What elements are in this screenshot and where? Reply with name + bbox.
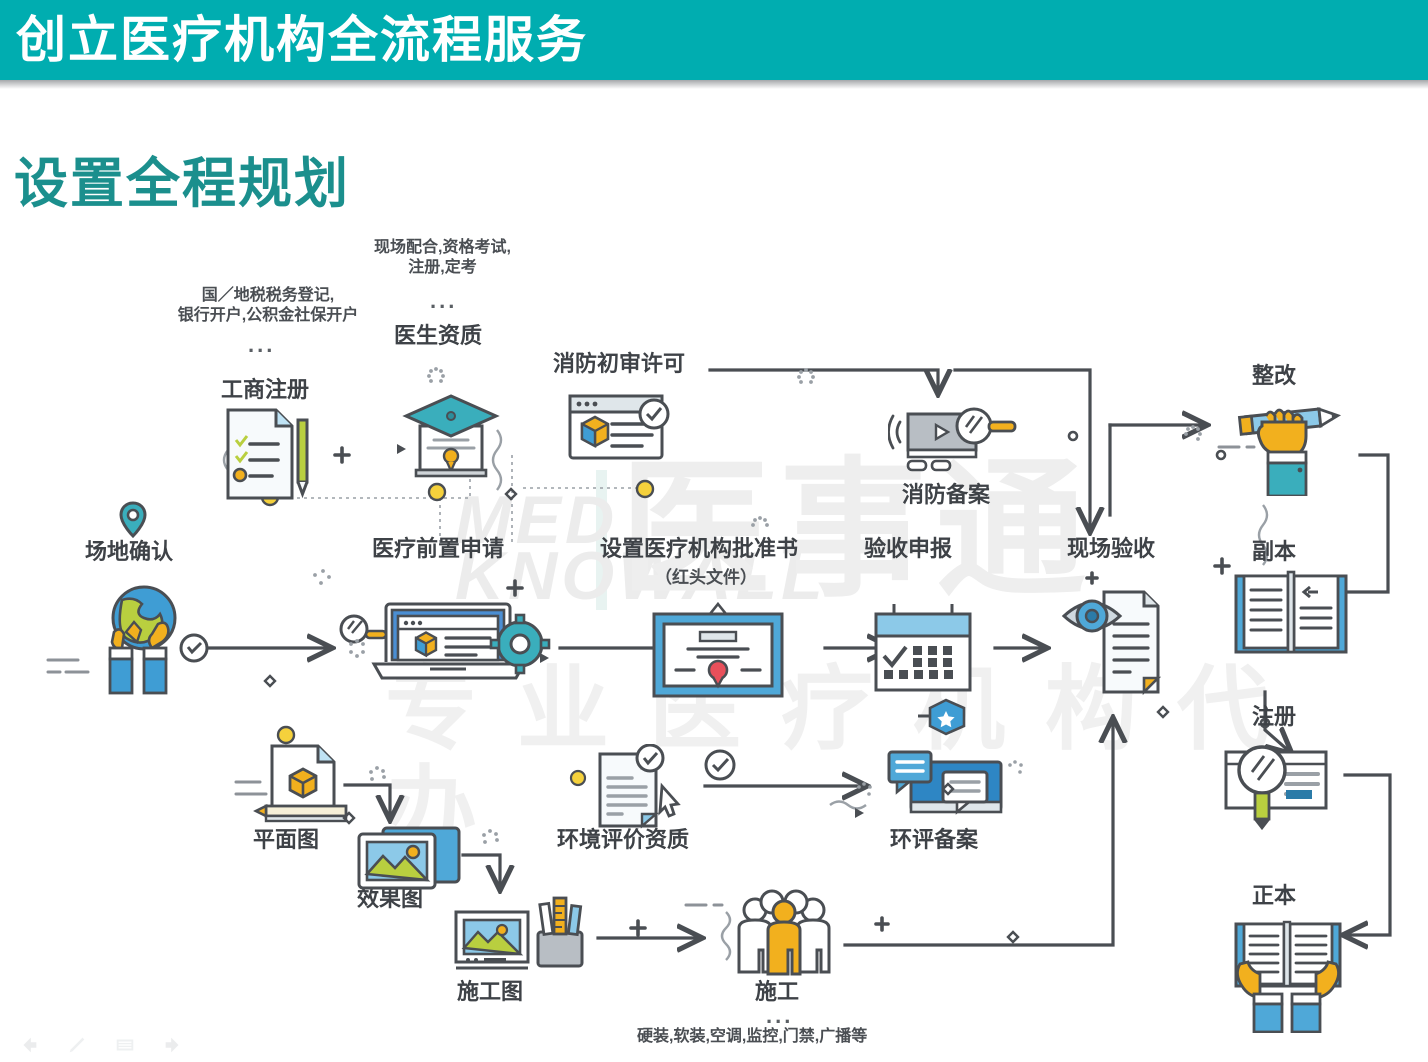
slide-canvas: 创立医疗机构全流程服务 设置全程规划 MED KNOWALL 医事通 专业医疗机… <box>0 0 1428 1062</box>
slide-toolbar[interactable] <box>18 1032 184 1058</box>
back-arrow-icon[interactable] <box>18 1034 40 1056</box>
sparkle-decorations <box>0 0 1428 1062</box>
menu-icon[interactable] <box>114 1034 136 1056</box>
forward-arrow-icon[interactable] <box>162 1034 184 1056</box>
pen-icon[interactable] <box>66 1034 88 1056</box>
